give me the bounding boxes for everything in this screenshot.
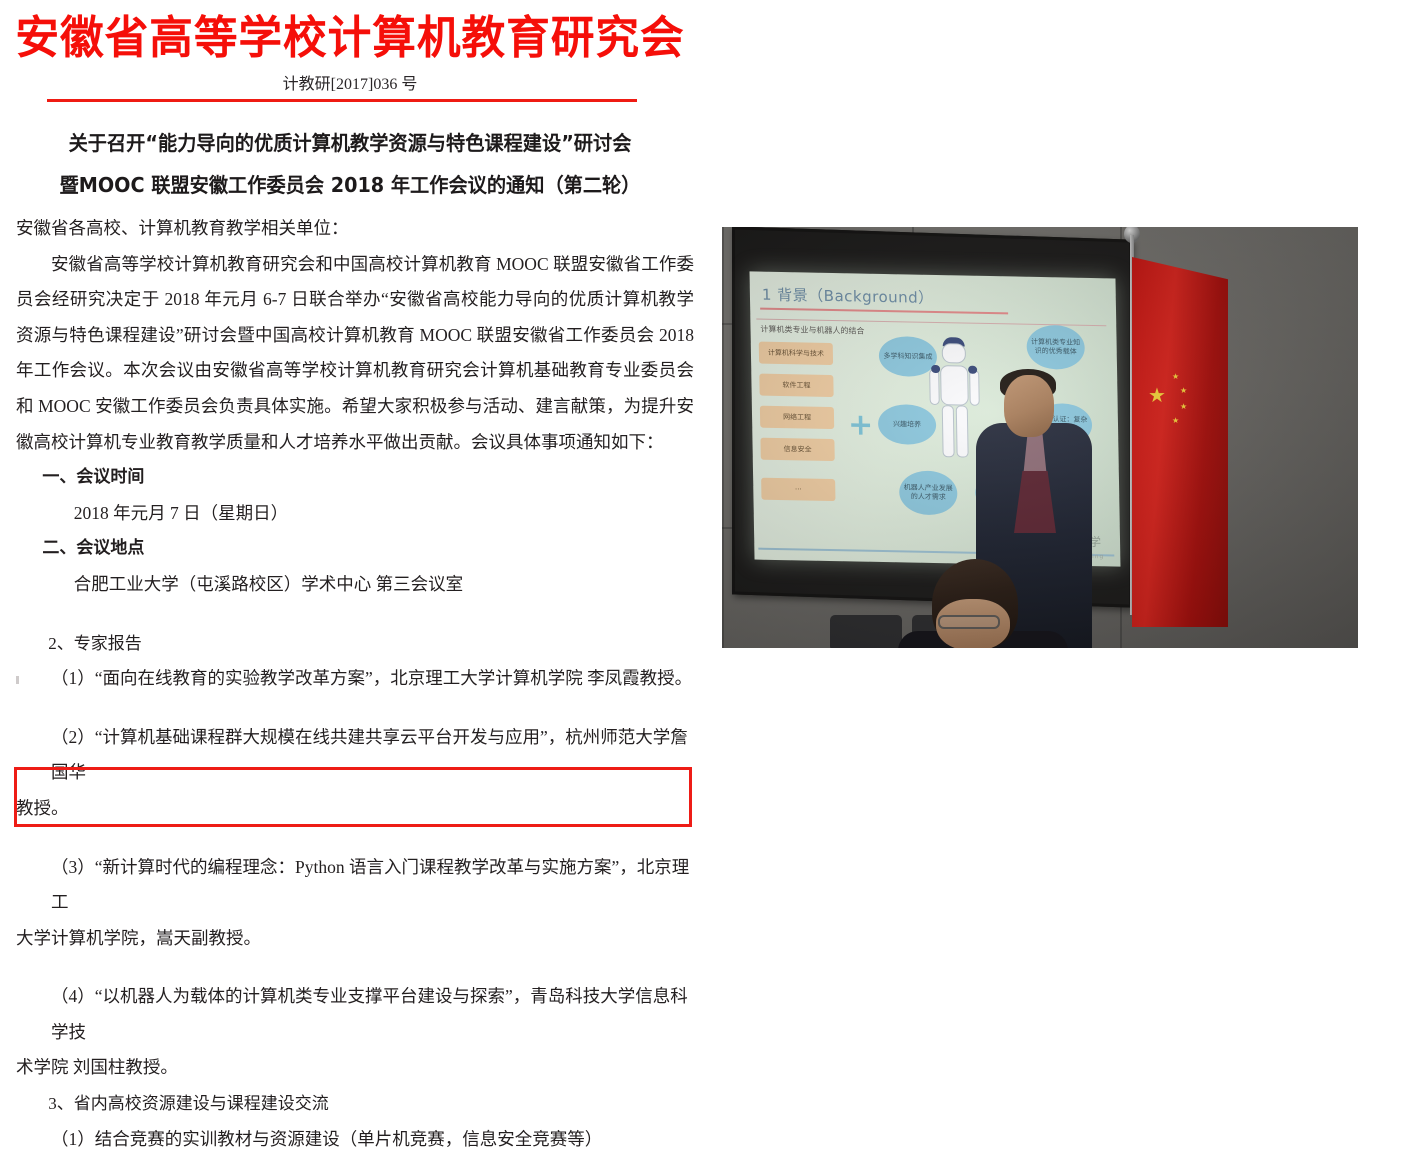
slide-bubble-talent-demand: 机器人产业发展的人才需求 <box>899 470 958 515</box>
robot-leg-left <box>942 405 955 457</box>
speaker-face <box>1004 375 1054 437</box>
seated-attendee-glasses <box>938 615 1000 629</box>
expert-reports-heading: 2、专家报告 <box>16 626 694 662</box>
masthead: 安徽省高等学校计算机教育研究会 计教研[2017]036 号 <box>0 6 700 95</box>
document-number: 计教研[2017]036 号 <box>0 75 700 95</box>
chair-left <box>830 615 902 648</box>
slide-title-rule <box>760 308 1008 315</box>
masthead-red-rule <box>47 99 637 102</box>
flag-star-1: ★ <box>1172 373 1179 381</box>
organization-title: 安徽省高等学校计算机教育研究会 <box>11 6 690 70</box>
salutation: 安徽省各高校、计算机教育教学相关单位： <box>16 211 694 247</box>
slide-major-chip-2: 软件工程 <box>759 374 833 397</box>
robot-arm-right <box>969 370 980 406</box>
flag-star-4: ★ <box>1172 417 1179 425</box>
slide-major-chip-3: 网络工程 <box>760 406 834 429</box>
slide-subtitle: 计算机类专业与机器人的结合 <box>760 324 864 337</box>
slide-major-chip-5: ··· <box>761 478 835 501</box>
headline-line-2: 暨MOOC 联盟安徽工作委员会 2018 年工作会议的通知（第二轮） <box>14 164 686 206</box>
robot-torso <box>940 365 969 406</box>
flag-star-large: ★ <box>1148 385 1166 405</box>
report-item-4-line-1: （4）“以机器人为载体的计算机类专业支撑平台建设与探索”，青岛科技大学信息科学技 <box>16 979 694 1050</box>
scan-artifact-speck <box>16 676 19 684</box>
section-3-item-1: （1）结合竞赛的实训教材与资源建设（单片机竞赛，信息安全竞赛等） <box>16 1122 694 1157</box>
robot-shoulder-right <box>968 366 977 374</box>
headline-line-1: 关于召开“能力导向的优质计算机教学资源与特色课程建设”研讨会 <box>14 122 686 164</box>
slide-major-chip-4: 信息安全 <box>760 438 834 461</box>
slide-title: 1 背景（Background） <box>762 284 934 308</box>
conference-presentation-photo: 1 背景（Background） 计算机类专业与机器人的结合 计算机科学与技术 … <box>722 227 1358 648</box>
intro-paragraph: 安徽省高等学校计算机教育研究会和中国高校计算机教育 MOOC 联盟安徽省工作委员… <box>16 247 694 461</box>
report-item-3-line-1: （3）“新计算时代的编程理念：Python 语言入门课程教学改革与实施方案”，北… <box>16 850 694 921</box>
robot-head <box>942 343 966 363</box>
flag-star-2: ★ <box>1180 387 1187 395</box>
section-1-body: 2018 年元月 7 日（星期日） <box>16 496 694 532</box>
chinese-national-flag: ★ ★ ★ ★ ★ <box>1132 257 1228 627</box>
plus-icon: + <box>848 415 870 437</box>
document-body: 安徽省各高校、计算机教育教学相关单位： 安徽省高等学校计算机教育研究会和中国高校… <box>16 211 694 1157</box>
flag-star-3: ★ <box>1180 403 1187 411</box>
report-item-4-line-2: 术学院 刘国柱教授。 <box>16 1050 694 1086</box>
document-headline: 关于召开“能力导向的优质计算机教学资源与特色课程建设”研讨会 暨MOOC 联盟安… <box>0 122 700 206</box>
robot-leg-right <box>956 405 969 457</box>
robot-shoulder-left <box>931 365 940 373</box>
wall-seam-vertical-left <box>722 227 724 648</box>
robot-illustration <box>927 337 983 468</box>
section-3-heading: 3、省内高校资源建设与课程建设交流 <box>16 1086 694 1122</box>
section-2-heading: 二、会议地点 <box>16 531 694 567</box>
document-page: 安徽省高等学校计算机教育研究会 计教研[2017]036 号 关于召开“能力导向… <box>0 0 710 926</box>
report-item-2-line-1: （2）“计算机基础课程群大规模在线共建共享云平台开发与应用”，杭州师范大学詹国华 <box>16 720 694 791</box>
section-2-body: 合肥工业大学（屯溪路校区）学术中心 第三会议室 <box>16 567 694 603</box>
report-item-3-line-2: 大学计算机学院，嵩天副教授。 <box>16 921 694 957</box>
robot-arm-left <box>929 369 940 405</box>
report-item-1: （1）“面向在线教育的实验教学改革方案”，北京理工大学计算机学院 李凤霞教授。 <box>16 661 694 697</box>
slide-bubble-carrier: 计算机类专业知识的优秀载体 <box>1026 325 1085 370</box>
report-item-2-line-2: 教授。 <box>16 791 694 827</box>
slide-major-chip-1: 计算机科学与技术 <box>759 342 833 365</box>
section-1-heading: 一、会议时间 <box>16 460 694 496</box>
